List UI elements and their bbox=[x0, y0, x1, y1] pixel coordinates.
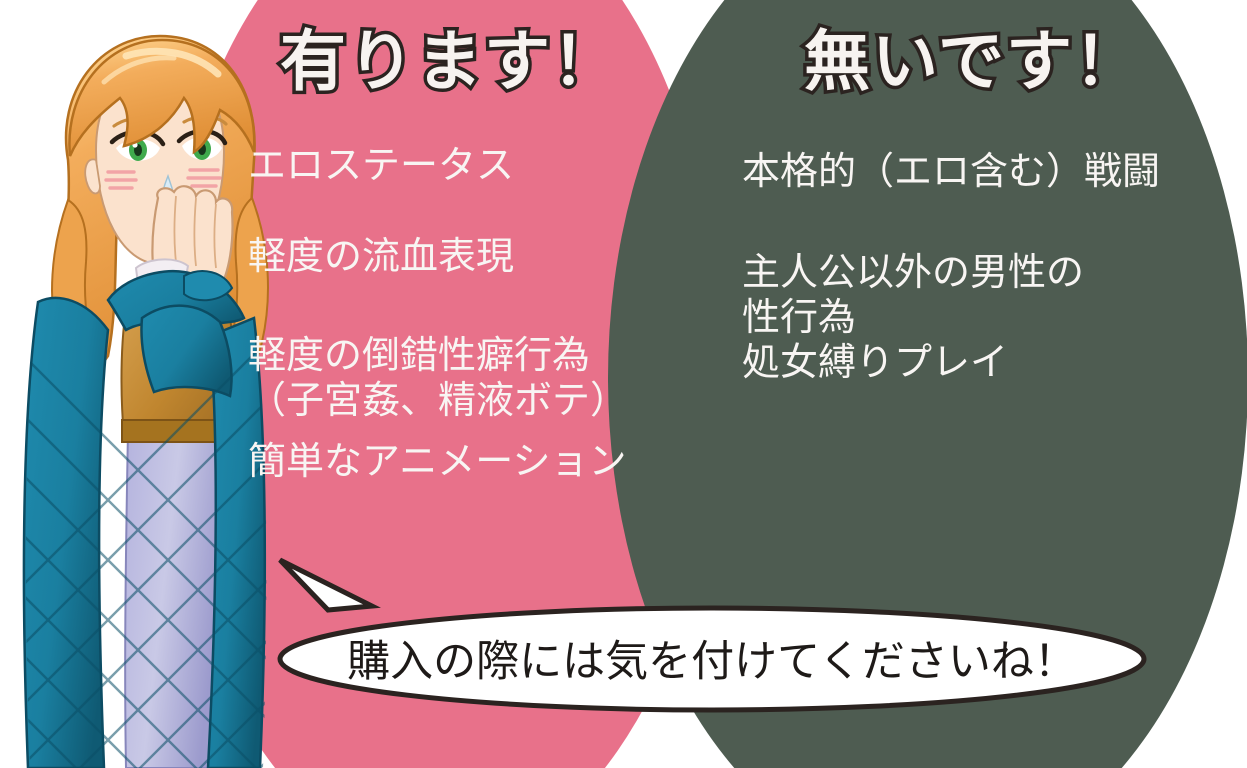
none-item-2: 主人公以外の男性の 性行為 bbox=[742, 250, 1212, 340]
has-item-2: 軽度の流血表現 bbox=[248, 234, 718, 279]
has-item-2-line1: 軽度の流血表現 bbox=[248, 234, 718, 279]
has-item-3-line2: （子宮姦、精液ボテ） bbox=[248, 378, 718, 423]
none-item-2-line1: 主人公以外の男性の bbox=[742, 250, 1212, 295]
has-panel-heading: 有ります！ bbox=[280, 26, 718, 97]
has-item-1: エロステータス bbox=[248, 143, 718, 188]
has-item-3: 軽度の倒錯性癖行為 （子宮姦、精液ボテ） bbox=[248, 333, 718, 423]
none-item-3-line1: 処女縛りプレイ bbox=[742, 340, 1212, 385]
has-item-4: 簡単なアニメーション bbox=[248, 439, 718, 484]
has-item-1-line1: エロステータス bbox=[248, 143, 718, 188]
none-item-1: 本格的（エロ含む）戦闘 bbox=[742, 149, 1212, 194]
has-panel: 有ります！ エロステータス 軽度の流血表現 軽度の倒錯性癖行為 （子宮姦、精液ボ… bbox=[248, 26, 718, 483]
none-item-3: 処女縛りプレイ bbox=[742, 340, 1212, 385]
none-item-1-line1: 本格的（エロ含む）戦闘 bbox=[742, 149, 1212, 194]
none-panel-heading: 無いです！ bbox=[804, 26, 1212, 97]
has-item-3-line1: 軽度の倒錯性癖行為 bbox=[248, 333, 718, 378]
speech-bubble: 購入の際には気を付けてくださいね！ bbox=[276, 604, 1148, 714]
none-item-2-line2: 性行為 bbox=[742, 295, 1212, 340]
has-item-4-line1: 簡単なアニメーション bbox=[248, 439, 718, 484]
poster-canvas: 有ります！ エロステータス 軽度の流血表現 軽度の倒錯性癖行為 （子宮姦、精液ボ… bbox=[0, 0, 1247, 768]
speech-bubble-text: 購入の際には気を付けてくださいね！ bbox=[276, 627, 1148, 689]
none-panel: 無いです！ 本格的（エロ含む）戦闘 主人公以外の男性の 性行為 処女縛りプレイ bbox=[742, 26, 1212, 385]
